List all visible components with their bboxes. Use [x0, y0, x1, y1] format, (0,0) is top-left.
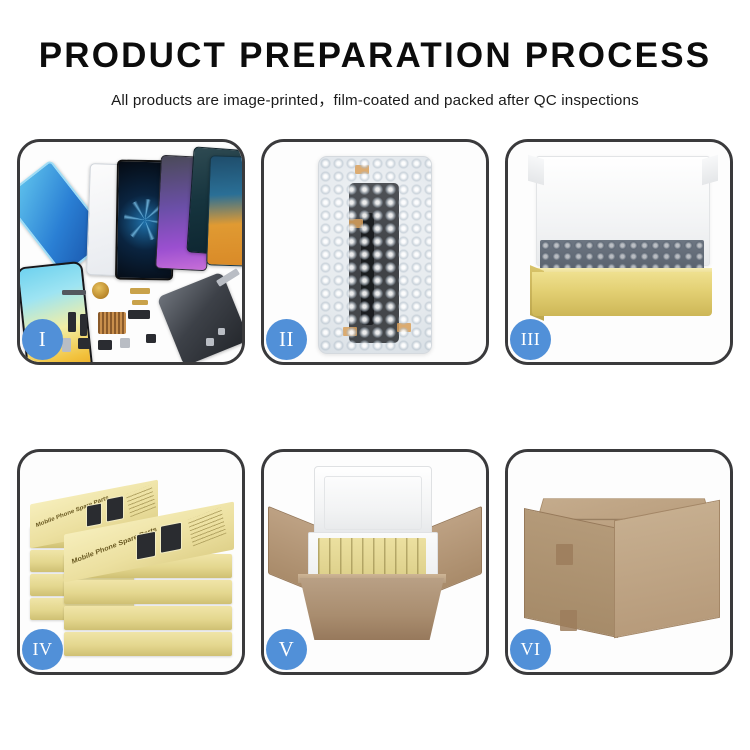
spare-part-flex-gold	[130, 288, 150, 294]
logic-board-chip	[98, 312, 126, 334]
bubble-wrap-bag	[318, 156, 432, 354]
stacked-box-right-4	[64, 632, 232, 656]
spare-part-sim-tray	[62, 338, 71, 352]
bubble-texture	[319, 157, 431, 353]
spare-part-chip	[62, 290, 86, 295]
carton-right-face	[614, 500, 720, 639]
step-badge-2: II	[266, 319, 307, 360]
spare-part-connector	[132, 300, 148, 305]
spare-part-button	[68, 312, 76, 332]
lid-screen-image-front-1	[136, 531, 156, 561]
carton-tape-upper	[556, 544, 573, 565]
process-step-5: V	[261, 449, 489, 675]
step-badge-6: VI	[510, 629, 551, 670]
lid-screen-image-back-2	[106, 495, 124, 522]
repair-tweezers	[216, 268, 240, 287]
carton-front-panel	[300, 578, 444, 640]
page-title: PRODUCT PREPARATION PROCESS	[0, 38, 750, 75]
page-header: PRODUCT PREPARATION PROCESS All products…	[0, 0, 750, 110]
stacked-box-right-2	[64, 580, 232, 604]
lid-spec-lines-front	[188, 507, 227, 546]
lid-screen-image-front-2	[160, 522, 182, 554]
spare-part-speaker	[78, 338, 90, 349]
carton-tape-lower	[560, 610, 577, 631]
orange-blue-phone	[206, 155, 242, 267]
step-badge-4: IV	[22, 629, 63, 670]
spare-part-bracket	[146, 334, 156, 343]
spare-part-flexcable	[80, 314, 87, 336]
spare-part-taptic	[98, 340, 112, 350]
lid-spec-lines-back	[126, 485, 156, 518]
process-step-4: Mobile Phone Spare Parts Mobile Phone Sp…	[17, 449, 245, 675]
step-badge-1: I	[22, 319, 63, 360]
stacked-box-right-3	[64, 606, 232, 630]
process-step-3: III	[505, 139, 733, 365]
spare-part-camera	[128, 310, 150, 319]
step-badge-3: III	[510, 319, 551, 360]
lid-screen-image-back-1	[86, 502, 102, 527]
yellow-boxes-inside	[318, 538, 426, 578]
vibration-motor-coil	[92, 282, 109, 299]
process-step-6: VI	[505, 449, 733, 675]
step-badge-5: V	[266, 629, 307, 670]
process-step-1: I	[17, 139, 245, 365]
kraft-box-front	[532, 272, 712, 316]
page-subtitle: All products are image-printed，film-coat…	[0, 88, 750, 110]
spare-part-screw-2	[218, 328, 225, 335]
spare-part-screw	[206, 338, 214, 346]
foam-cooler-lid	[314, 466, 432, 540]
process-step-2: II	[261, 139, 489, 365]
box-stack: Mobile Phone Spare Parts Mobile Phone Sp…	[30, 474, 238, 658]
phone-back-housing	[157, 272, 242, 362]
process-step-grid: I II	[17, 139, 733, 675]
spare-part-screw-plate	[120, 338, 130, 348]
